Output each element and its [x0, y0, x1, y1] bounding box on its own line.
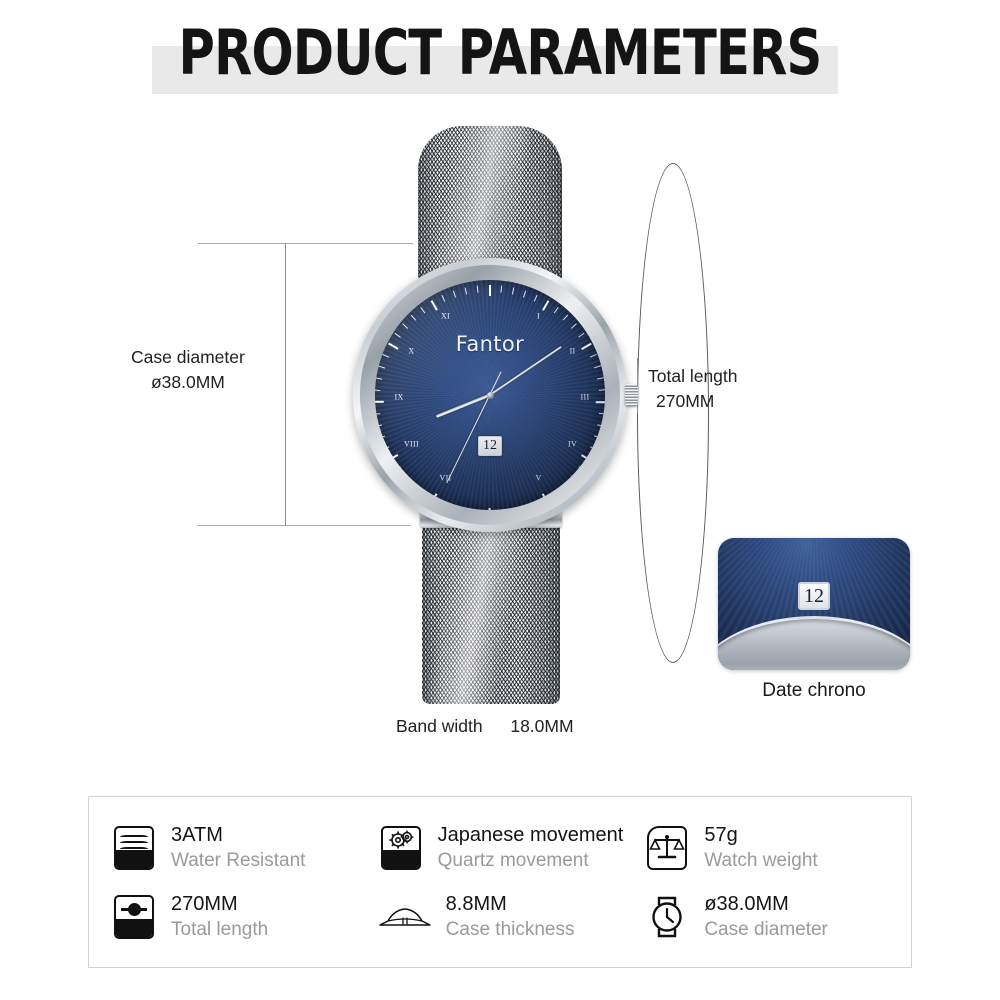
hour-numeral: I — [537, 312, 540, 321]
band-width-label: Band width — [396, 716, 483, 736]
hour-hand — [436, 394, 491, 418]
minute-tick — [579, 333, 585, 338]
minute-tick — [383, 354, 390, 358]
case-diameter-callout: Case diameter ø38.0MM — [131, 345, 245, 395]
minute-tick — [594, 365, 601, 368]
spec-case-diameter: ø38.0MM Case diameter — [644, 882, 911, 951]
spec-description: Watch weight — [704, 848, 817, 873]
chrono-date-window: 12 — [798, 582, 830, 610]
page-title: PRODUCT PARAMETERS — [100, 22, 900, 84]
minute-tick — [599, 389, 605, 391]
wristwatch-icon — [644, 894, 690, 940]
band-width-callout: Band width 18.0MM — [396, 714, 574, 739]
hour-numeral: VIII — [404, 439, 419, 448]
hour-numeral: XI — [441, 312, 450, 321]
hour-numeral: III — [581, 393, 590, 402]
balance-scale-icon — [644, 825, 690, 871]
hands-pivot — [487, 392, 494, 399]
minute-tick — [563, 315, 569, 321]
minute-tick — [554, 307, 559, 313]
hour-numeral: V — [535, 473, 541, 482]
spec-value: 8.8MM — [446, 892, 575, 917]
minute-tick — [375, 389, 381, 391]
specifications-grid: 3ATM Water Resistant — [89, 797, 911, 967]
minute-tick — [379, 365, 386, 368]
watch-case: IIIIIIIVVVIIVIIIIXXXI Fantor 12 — [353, 258, 627, 532]
watch-product-image: IIIIIIIVVVIIVIIIIXXXI Fantor 12 — [380, 120, 600, 700]
spec-value: 3ATM — [171, 823, 305, 848]
spec-water-resistance: 3ATM Water Resistant — [111, 813, 378, 882]
minute-tick — [442, 295, 446, 302]
minute-tick — [571, 323, 577, 329]
date-chrono-zoom-view: 12 VII VI V — [718, 538, 910, 670]
minute-tick — [489, 285, 491, 296]
case-bezel: IIIIIIIVVVIIVIIIIXXXI Fantor 12 — [360, 265, 620, 525]
brand-name: Fantor — [375, 332, 605, 356]
strap-bottom-highlight — [422, 520, 560, 704]
hour-numeral: VII — [439, 473, 451, 482]
minute-tick — [597, 377, 604, 380]
spec-weight: 57g Watch weight — [644, 813, 911, 882]
total-length-value: 270MM — [648, 389, 738, 414]
minute-tick — [489, 508, 491, 510]
minute-tick — [512, 287, 515, 294]
minute-tick — [501, 286, 503, 293]
hour-numeral: IX — [394, 393, 403, 402]
minute-tick — [388, 343, 398, 350]
spec-case-thickness: 8.8MM Case thickness — [378, 882, 645, 951]
case-profile-icon — [378, 894, 432, 940]
water-waves-icon — [111, 825, 157, 871]
minute-tick — [581, 343, 591, 350]
case-diameter-bottom-leader — [198, 525, 410, 526]
minute-tick — [375, 377, 382, 380]
spec-total-length: 270MM Total length — [111, 882, 378, 951]
spec-description: Case thickness — [446, 917, 575, 942]
spec-movement: Japanese movement Quartz movement — [378, 813, 645, 882]
minute-hand — [489, 346, 562, 396]
minute-tick — [477, 286, 479, 293]
hour-numerals: IIIIIIIVVVIIVIIIIXXXI — [375, 280, 605, 510]
minute-tick — [411, 315, 417, 321]
minute-ticks — [375, 280, 605, 510]
minute-tick — [465, 287, 468, 294]
spec-description: Case diameter — [704, 917, 828, 942]
spec-value: ø38.0MM — [704, 892, 828, 917]
watch-dial: IIIIIIIVVVIIVIIIIXXXI Fantor 12 — [375, 280, 605, 510]
minute-tick — [534, 295, 538, 302]
minute-tick — [375, 401, 384, 403]
gears-icon — [378, 825, 424, 871]
spec-value: 270MM — [171, 892, 268, 917]
total-length-label: Total length — [648, 366, 738, 386]
minute-tick — [590, 354, 597, 358]
spec-value: 57g — [704, 823, 817, 848]
minute-tick — [403, 323, 409, 329]
minute-tick — [375, 413, 381, 415]
watch-hands — [375, 280, 605, 510]
minute-tick — [395, 333, 401, 338]
specifications-panel: 3ATM Water Resistant — [88, 796, 912, 968]
case-diameter-dimension-line — [285, 243, 286, 525]
crown-icon — [625, 384, 638, 406]
second-hand — [447, 395, 491, 484]
minute-tick — [421, 307, 426, 313]
total-length-callout: Total length 270MM — [648, 364, 738, 414]
spec-description: Total length — [171, 917, 268, 942]
band-width-value: 18.0MM — [510, 716, 573, 736]
minute-tick — [542, 300, 549, 310]
hour-numeral: II — [570, 346, 576, 355]
date-chrono-caption: Date chrono — [718, 680, 910, 702]
infographic-canvas: PRODUCT PARAMETERS Case diameter ø38.0MM… — [0, 0, 1000, 1000]
hour-numeral: IV — [568, 439, 577, 448]
mesh-strap-bottom — [422, 520, 560, 704]
spec-description: Quartz movement — [438, 848, 624, 873]
minute-tick — [523, 291, 526, 298]
case-diameter-label: Case diameter — [131, 347, 245, 367]
strap-length-icon — [111, 894, 157, 940]
minute-tick — [596, 401, 605, 403]
spec-value: Japanese movement — [438, 823, 624, 848]
minute-tick — [431, 300, 438, 310]
spec-description: Water Resistant — [171, 848, 305, 873]
case-diameter-value: ø38.0MM — [131, 370, 245, 395]
date-window: 12 — [478, 436, 502, 456]
hour-numeral: X — [408, 346, 414, 355]
minute-tick — [453, 291, 456, 298]
